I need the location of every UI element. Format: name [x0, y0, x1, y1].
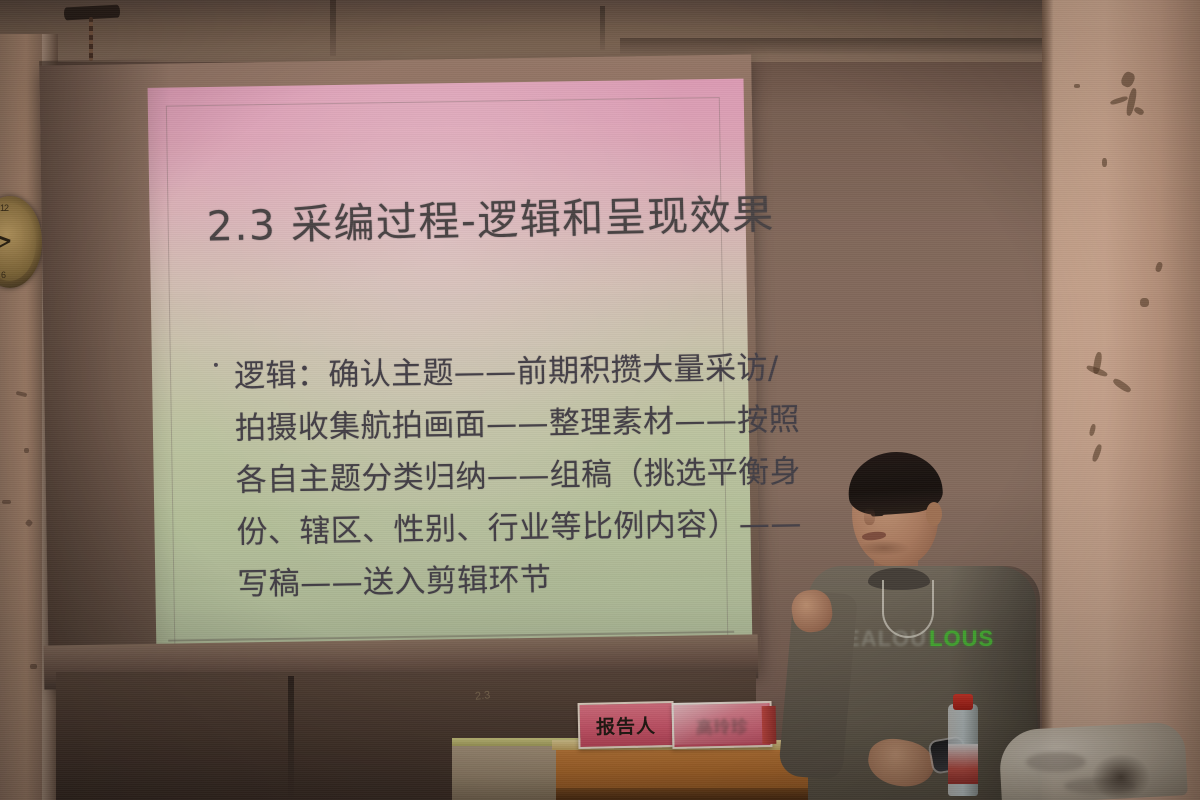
wall-scribble-mark — [1102, 158, 1107, 167]
slide-body-line: 写稿——送入剪辑环节 — [237, 550, 758, 610]
hanging-chain — [89, 17, 93, 61]
lecture-hall-photo: 12 6 2.3 采编过程-逻辑和呈现效果 逻辑：确认主题——前期积攒大量采访/… — [0, 0, 1200, 800]
water-bottle-cap — [953, 694, 973, 710]
slide-body-line: 各自主题分类归纳——组稿（挑选平衡身 — [235, 446, 756, 506]
wall-scribble-mark — [1140, 298, 1149, 307]
water-bottle-label — [948, 744, 978, 784]
slide-bullet-icon — [214, 363, 218, 367]
coat-fold — [1026, 752, 1086, 772]
slide-body: 逻辑：确认主题——前期积攒大量采访/ 拍摄收集航拍画面——整理素材——按照 各自… — [234, 342, 758, 610]
coat-shadow — [1092, 754, 1150, 800]
slide-body-line: 拍摄收集航拍画面——整理素材——按照 — [235, 394, 756, 454]
wall-blemish — [2, 500, 11, 504]
shirt-logo: JEALOU LOUS — [848, 624, 978, 654]
nameplate-stand — [762, 706, 777, 744]
ceiling-seam — [330, 0, 336, 56]
ceiling-seam-secondary — [600, 6, 605, 50]
nameplate-speaker-text: 高玲珍 — [695, 712, 748, 738]
wall-blemish — [30, 664, 37, 669]
screen-left-shadow — [39, 59, 179, 679]
clock-hour-12: 12 — [0, 203, 8, 213]
wall-blemish — [24, 448, 29, 453]
speaker-ear — [926, 502, 942, 526]
slide-body-line: 逻辑：确认主题——前期积攒大量采访/ — [234, 342, 755, 402]
slide-body-line: 份、辖区、性别、行业等比例内容）—— — [236, 498, 757, 558]
board-seam — [288, 676, 294, 800]
speaker-nose — [864, 508, 875, 525]
speaker-chin-shadow — [858, 540, 910, 556]
shirt-logo-lit-text: LOUS — [929, 626, 994, 652]
clock-hour-6: 6 — [1, 270, 5, 280]
board-chalk-mark: 2.3 — [474, 689, 490, 703]
nameplate-role-text: 报告人 — [596, 711, 657, 739]
wall-scribble-mark — [1074, 84, 1080, 88]
nameplate-role: 报告人 — [578, 701, 675, 749]
nameplate-speaker: 高玲珍 — [672, 701, 773, 749]
